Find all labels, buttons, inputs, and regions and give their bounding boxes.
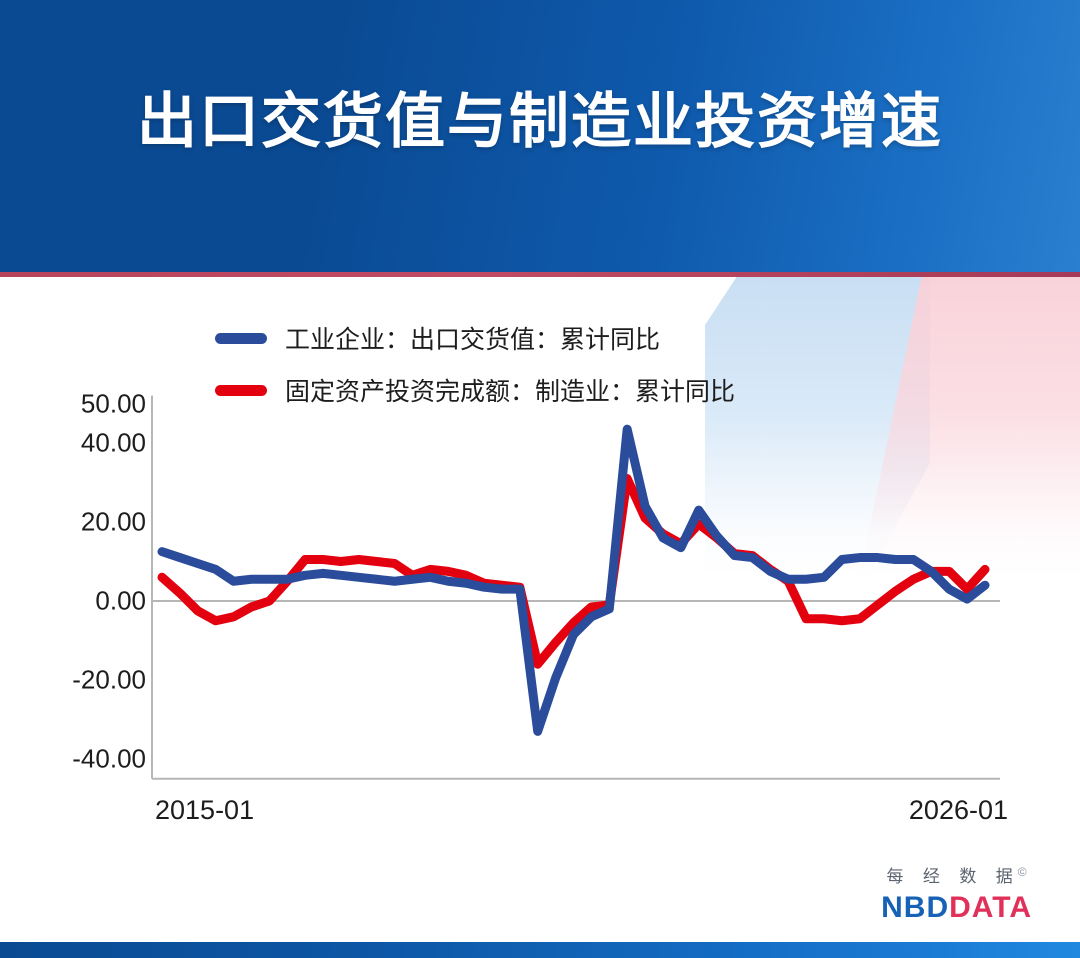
legend-label-manufacturing-fai: 固定资产投资完成额：制造业：累计同比 [285, 372, 735, 408]
logo-chinese-text: 每 经 数 据 [887, 869, 1020, 886]
x-axis-tick-start: 2015-01 [155, 795, 254, 826]
y-tick-label: -40.00 [36, 744, 146, 775]
y-tick-label: -20.00 [36, 665, 146, 696]
chart-series-group [162, 429, 985, 731]
y-axis-tick-labels: 50.0040.0020.000.00-20.00-40.00 [28, 277, 146, 877]
legend-item-manufacturing-fai: 固定资产投资完成额：制造业：累计同比 [215, 372, 735, 408]
x-axis-tick-end: 2026-01 [909, 795, 1008, 826]
footer-accent-bar [0, 942, 1080, 958]
infographic-page: 出口交货值与制造业投资增速 50.0040.0020.000.00-20.00-… [0, 0, 1080, 958]
legend-swatch-red-icon [215, 385, 267, 396]
y-tick-label: 50.00 [36, 388, 146, 419]
logo-chinese-line: 每 经 数 据© [881, 866, 1032, 886]
legend-swatch-blue-icon [215, 333, 267, 344]
logo-data-text: DATA [949, 891, 1032, 924]
series-line-export-delivery [162, 429, 985, 731]
y-tick-label: 40.00 [36, 428, 146, 459]
y-tick-label: 0.00 [36, 586, 146, 617]
logo-english-line: NBDDATA [881, 893, 1032, 923]
logo-nbd-text: NBD [881, 891, 949, 924]
chart-legend: 工业企业：出口交货值：累计同比 固定资产投资完成额：制造业：累计同比 [215, 320, 735, 408]
nbd-data-logo: 每 经 数 据© NBDDATA [881, 866, 1032, 923]
page-title: 出口交货值与制造业投资增速 [0, 88, 1080, 157]
legend-item-export-delivery: 工业企业：出口交货值：累计同比 [215, 320, 735, 356]
legend-label-export-delivery: 工业企业：出口交货值：累计同比 [285, 320, 660, 356]
y-tick-label: 20.00 [36, 507, 146, 538]
